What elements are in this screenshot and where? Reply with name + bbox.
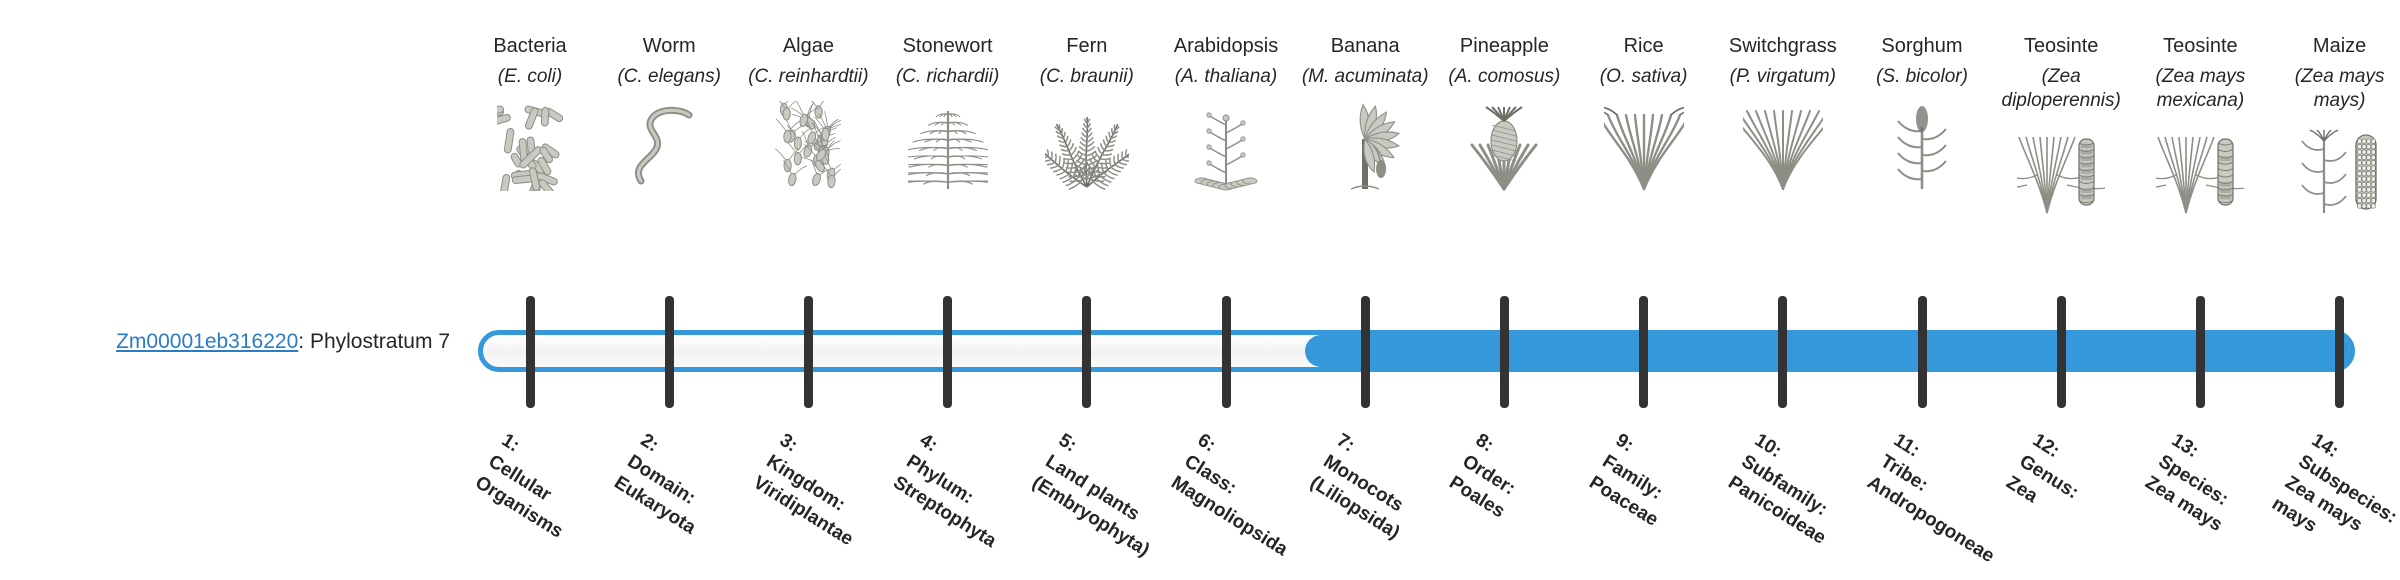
teosinte-plant-and-ear-illustration: [1992, 125, 2130, 217]
phylostratum-label-13: 13:Species:Zea mays: [2141, 428, 2254, 538]
arabidopsis-rosette-illustration: [1157, 101, 1295, 193]
species-common-name: Sorghum: [1853, 34, 1991, 59]
species-column-sorghum-11: Sorghum(S. bicolor): [1853, 34, 1991, 193]
phylostratum-label-5: 5:Land plants(Embryophyta): [1027, 428, 1180, 563]
phylostratum-tick-7[interactable]: [1361, 296, 1370, 408]
species-column-stonewort-4: Stonewort(C. richardii): [879, 34, 1017, 193]
species-column-bacteria-1: Bacteria(E. coli): [461, 34, 599, 193]
phylostratum-tick-1[interactable]: [526, 296, 535, 408]
species-scientific-name: (E. coli): [461, 65, 599, 89]
sorghum-plant-illustration: [1853, 101, 1991, 193]
gene-label-separator: :: [298, 330, 310, 353]
maize-plant-and-cob-illustration: [2271, 125, 2400, 217]
phylostratum-label-7: 7:Monocots(Liliopsida): [1305, 428, 1431, 545]
phylostratum-taxon: Andropogoneae: [1863, 472, 1998, 567]
phylostratum-label-3: 3:Kingdom:Viridiplantae: [749, 428, 885, 552]
species-column-fern-5: Fern(C. braunii): [1018, 34, 1156, 193]
species-scientific-name: (O. sativa): [1575, 65, 1713, 89]
phylostratum-tick-12[interactable]: [2057, 296, 2066, 408]
banana-plant-illustration: [1296, 101, 1434, 193]
species-common-name: Stonewort: [879, 34, 1017, 59]
phylostratum-label-6: 6:Class:Magnoliopsida: [1166, 428, 1319, 562]
phylostratum-timeline-figure: Zm00001eb316220: Phylostratum 7 Bacteria…: [0, 0, 2400, 580]
fern-frond-illustration: [1018, 101, 1156, 193]
species-column-pineapple-8: Pineapple(A. comosus): [1435, 34, 1573, 193]
phylostratum-tick-5[interactable]: [1082, 296, 1091, 408]
phylostratum-tick-11[interactable]: [1918, 296, 1927, 408]
phylostratum-label-10: 10:Subfamily:Panicoideae: [1723, 428, 1857, 550]
phylostratum-number: 7:: [1333, 430, 1358, 457]
green-algae-cells-illustration: [739, 101, 877, 193]
phylostratum-tick-9[interactable]: [1639, 296, 1648, 408]
phylostratum-label-8: 8:Order:Poales: [1445, 428, 1537, 524]
phylostratum-number: 6:: [1194, 430, 1219, 457]
gene-id-link[interactable]: Zm00001eb316220: [116, 330, 298, 353]
phylostratum-tick-4[interactable]: [943, 296, 952, 408]
rice-plant-illustration: [1575, 101, 1713, 193]
species-scientific-name: (C. richardii): [879, 65, 1017, 89]
phylostratum-number: 8:: [1472, 430, 1497, 457]
species-column-banana-7: Banana(M. acuminata): [1296, 34, 1434, 193]
species-common-name: Teosinte: [2131, 34, 2269, 59]
phylostratum-label-2: 2:Domain:Eukaryota: [609, 428, 727, 540]
species-common-name: Maize: [2271, 34, 2400, 59]
pineapple-plant-illustration: [1435, 101, 1573, 193]
species-scientific-name: (M. acuminata): [1296, 65, 1434, 89]
species-column-teosinte-13: Teosinte(Zea mays mexicana): [2131, 34, 2269, 217]
species-common-name: Algae: [739, 34, 877, 59]
phylostratum-tick-8[interactable]: [1500, 296, 1509, 408]
phylostratum-track[interactable]: [478, 330, 2355, 372]
switchgrass-clump-illustration: [1714, 101, 1852, 193]
phylostratum-label-9: 9:Family:Poaceae: [1584, 428, 1689, 532]
species-common-name: Pineapple: [1435, 34, 1573, 59]
bacteria-rods-illustration: [461, 101, 599, 193]
nematode-worm-illustration: [600, 101, 738, 193]
gene-phylostratum-value: Phylostratum 7: [310, 330, 450, 353]
species-column-algae-3: Algae(C. reinhardtii): [739, 34, 877, 193]
stonewort-alga-illustration: [879, 101, 1017, 193]
species-header-row: Bacteria(E. coli)Worm(C. elegans)Algae(C…: [0, 0, 2400, 310]
phylostratum-number: 1:: [498, 430, 523, 457]
species-scientific-name: (Zea mays mexicana): [2131, 65, 2269, 113]
species-column-maize-14: Maize(Zea mays mays): [2271, 34, 2400, 217]
species-scientific-name: (A. comosus): [1435, 65, 1573, 89]
phylostratum-number: 3:: [776, 430, 801, 457]
phylostratum-label-1: 1:CellularOrganisms: [470, 428, 594, 544]
species-column-worm-2: Worm(C. elegans): [600, 34, 738, 193]
species-column-arabidopsis-6: Arabidopsis(A. thaliana): [1157, 34, 1295, 193]
phylostratum-label-11: 11:Tribe:Andropogoneae: [1862, 428, 2025, 569]
phylostratum-tick-10[interactable]: [1778, 296, 1787, 408]
phylostratum-tick-13[interactable]: [2196, 296, 2205, 408]
phylostratum-label-4: 4:Phylum:Streptophyta: [888, 428, 1027, 554]
species-scientific-name: (Zea diploperennis): [1992, 65, 2130, 113]
phylostratum-number: 9:: [1611, 430, 1636, 457]
phylostratum-tick-2[interactable]: [665, 296, 674, 408]
species-common-name: Fern: [1018, 34, 1156, 59]
phylostratum-tick-14[interactable]: [2335, 296, 2344, 408]
phylostratum-tick-6[interactable]: [1222, 296, 1231, 408]
species-common-name: Teosinte: [1992, 34, 2130, 59]
phylostratum-number: 2:: [637, 430, 662, 457]
species-scientific-name: (Zea mays mays): [2271, 65, 2400, 113]
species-scientific-name: (C. elegans): [600, 65, 738, 89]
teosinte-mexicana-plant-and-ear-illustration: [2131, 125, 2269, 217]
species-scientific-name: (A. thaliana): [1157, 65, 1295, 89]
phylostratum-number: 4:: [915, 430, 940, 457]
species-column-rice-9: Rice(O. sativa): [1575, 34, 1713, 193]
species-common-name: Switchgrass: [1714, 34, 1852, 59]
species-common-name: Arabidopsis: [1157, 34, 1295, 59]
phylostratum-number: 5:: [1055, 430, 1080, 457]
species-scientific-name: (S. bicolor): [1853, 65, 1991, 89]
species-scientific-name: (C. braunii): [1018, 65, 1156, 89]
gene-phylostratum-label: Zm00001eb316220: Phylostratum 7: [30, 330, 450, 354]
species-common-name: Worm: [600, 34, 738, 59]
species-common-name: Banana: [1296, 34, 1434, 59]
species-common-name: Bacteria: [461, 34, 599, 59]
species-column-switchgrass-10: Switchgrass(P. virgatum): [1714, 34, 1852, 193]
species-scientific-name: (C. reinhardtii): [739, 65, 877, 89]
species-common-name: Rice: [1575, 34, 1713, 59]
phylostratum-tick-3[interactable]: [804, 296, 813, 408]
species-column-teosinte-12: Teosinte(Zea diploperennis): [1992, 34, 2130, 217]
phylostratum-label-14: 14:Subspecies:Zea mays mays: [2267, 428, 2400, 572]
species-scientific-name: (P. virgatum): [1714, 65, 1852, 89]
